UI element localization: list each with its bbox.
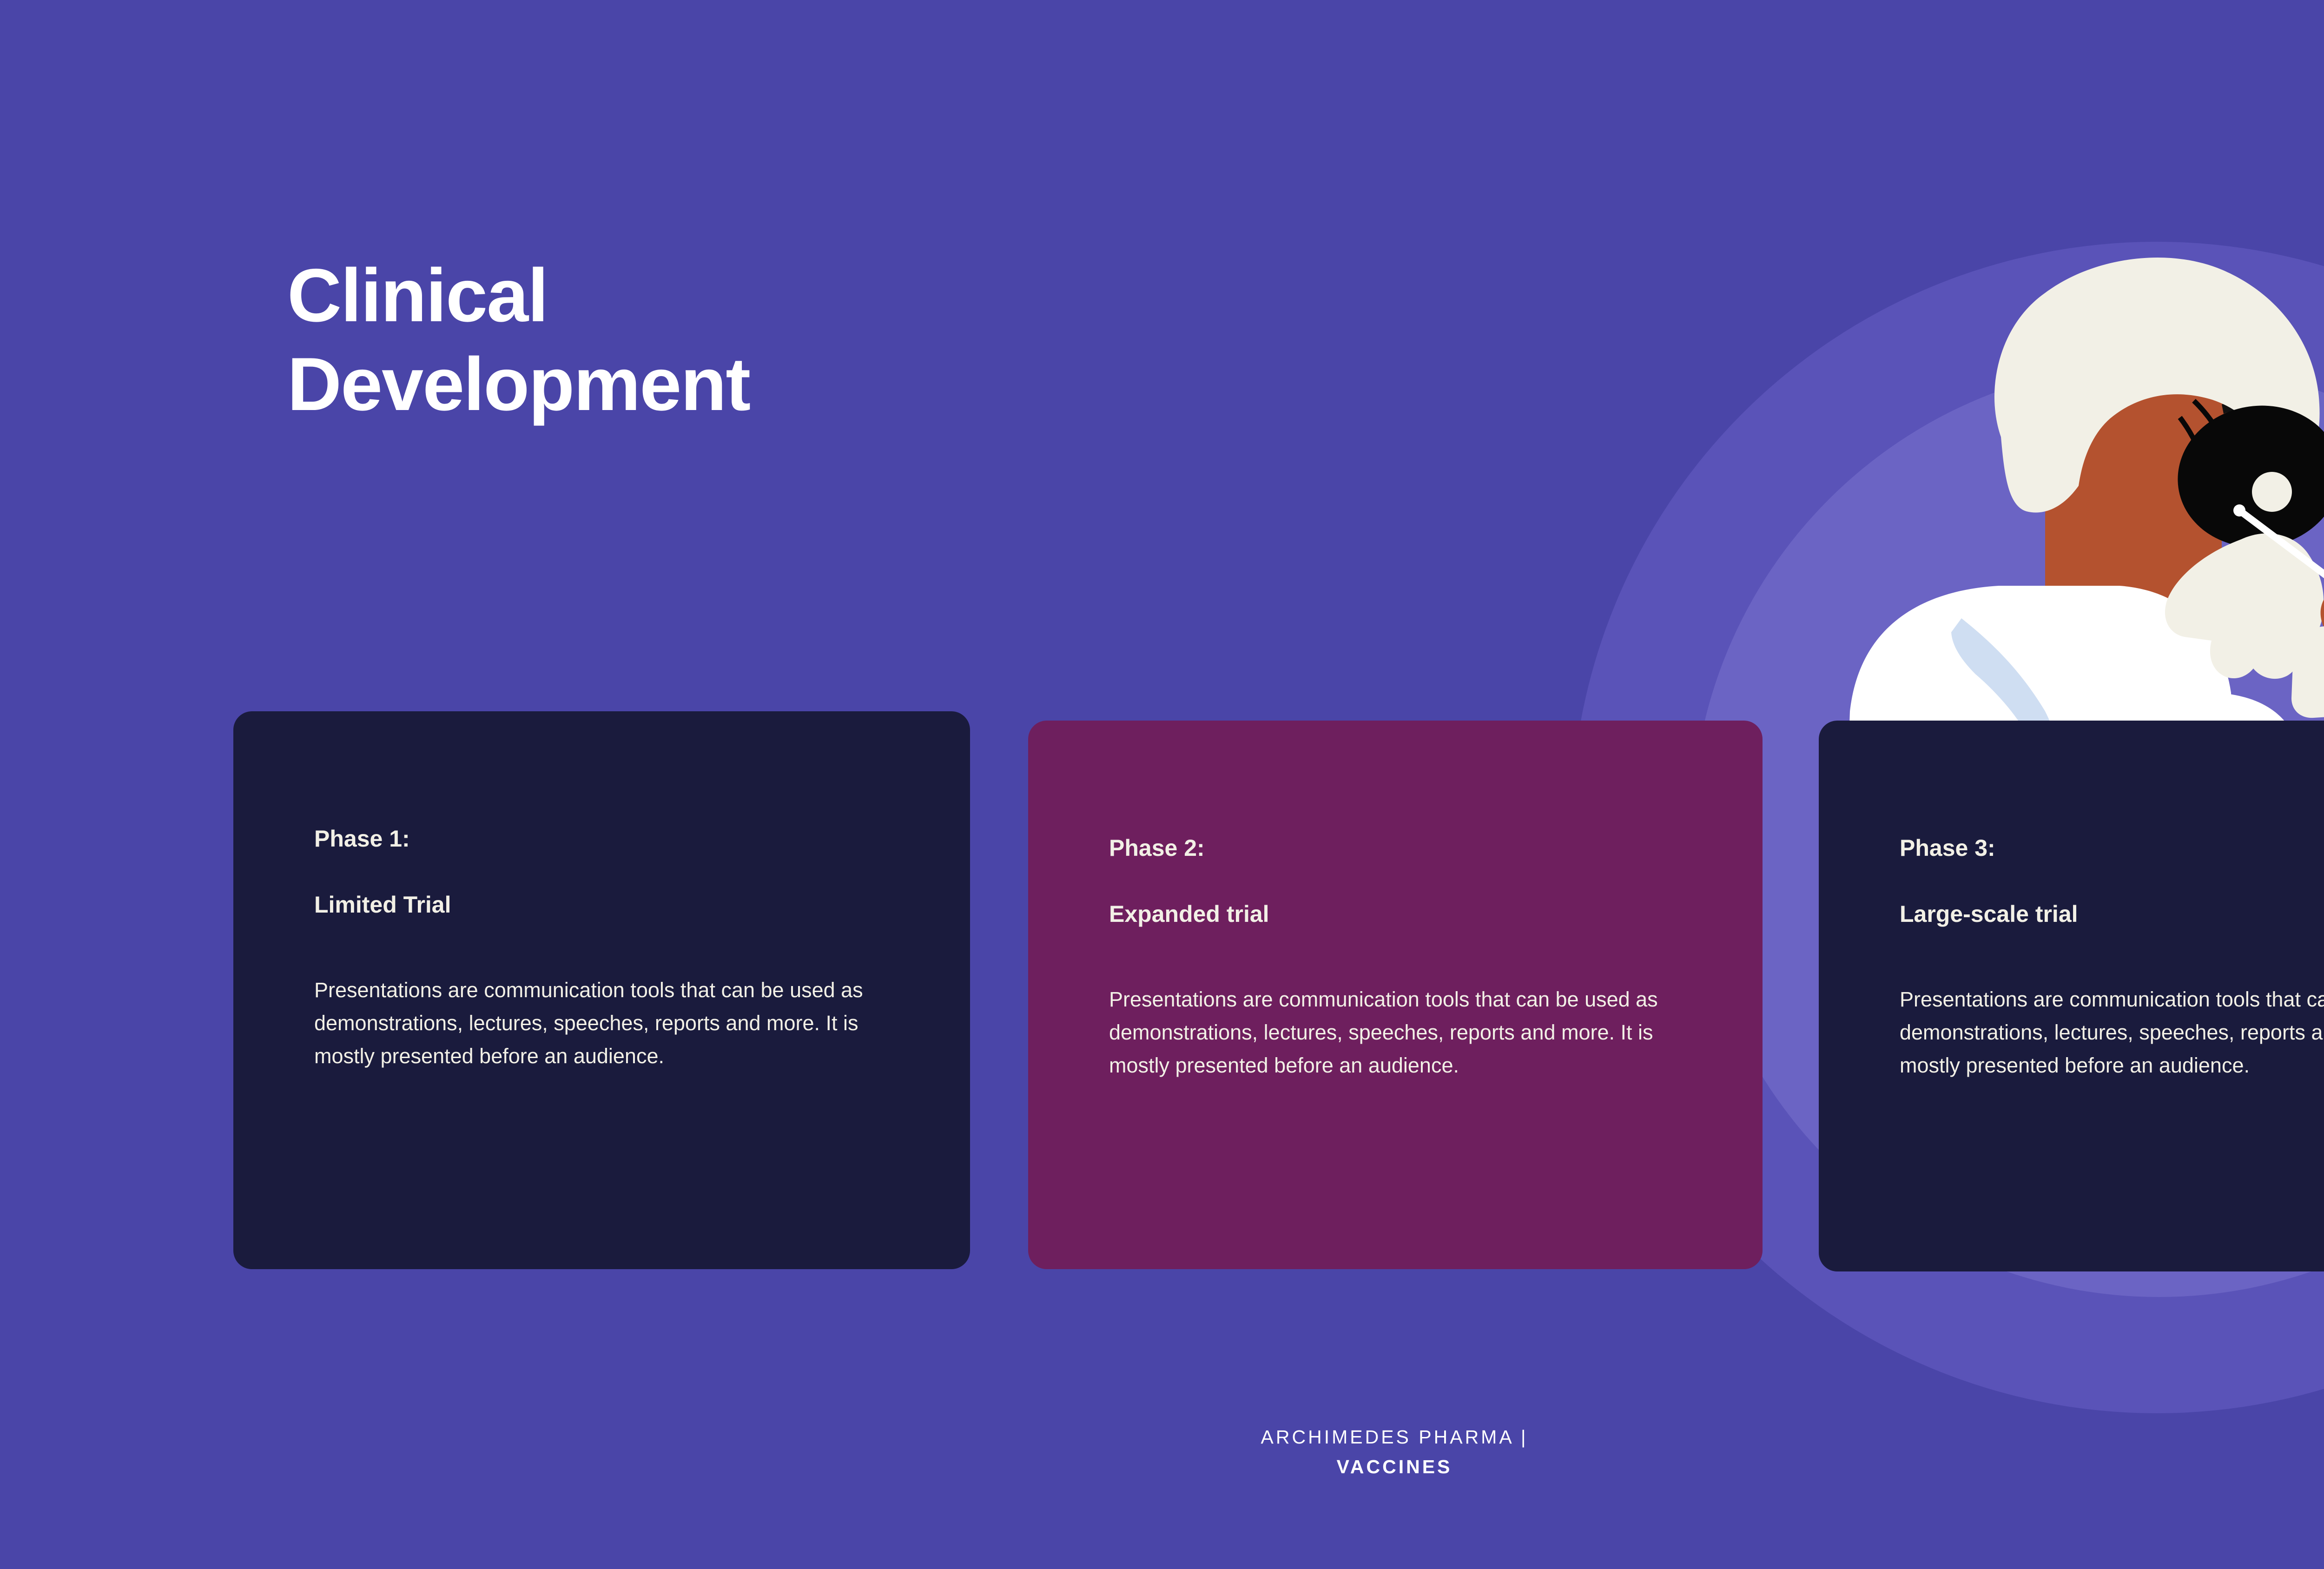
phase-card-1-heading: Phase 1: Limited Trial xyxy=(314,789,970,921)
slide-canvas: Clinical Development Phase 1: Limited Tr… xyxy=(0,0,2324,1569)
phase-card-2-heading-line-1: Phase 2: xyxy=(1109,835,1205,861)
phase-card-1-heading-line-2: Limited Trial xyxy=(314,892,451,918)
phase-card-3-heading-line-2: Large-scale trial xyxy=(1900,901,2078,927)
phase-card-1[interactable]: Phase 1: Limited Trial Presentations are… xyxy=(233,711,970,1269)
phase-card-2[interactable]: Phase 2: Expanded trial Presentations ar… xyxy=(1028,721,1763,1269)
phase-card-1-body: Presentations are communication tools th… xyxy=(314,973,905,1072)
phase-card-2-heading-line-2: Expanded trial xyxy=(1109,901,1269,927)
page-title: Clinical Development xyxy=(287,251,1310,429)
footer-line-2: VACCINES xyxy=(0,1452,2324,1482)
phase-card-2-body: Presentations are communication tools th… xyxy=(1109,983,1699,1082)
phase-card-3-body: Presentations are communication tools th… xyxy=(1900,983,2324,1082)
phase-card-2-heading: Phase 2: Expanded trial xyxy=(1109,799,1763,931)
phase-card-1-heading-line-1: Phase 1: xyxy=(314,826,410,852)
footer-line-1: ARCHIMEDES PHARMA | xyxy=(0,1423,2324,1452)
phase-card-3-heading: Phase 3: Large-scale trial xyxy=(1900,799,2324,931)
page-title-line-1: Clinical xyxy=(287,251,1310,340)
footer: ARCHIMEDES PHARMA | VACCINES xyxy=(0,1423,2324,1482)
phase-card-3-heading-line-1: Phase 3: xyxy=(1900,835,1995,861)
page-title-line-2: Development xyxy=(287,340,1310,429)
phase-card-3[interactable]: Phase 3: Large-scale trial Presentations… xyxy=(1819,721,2324,1271)
